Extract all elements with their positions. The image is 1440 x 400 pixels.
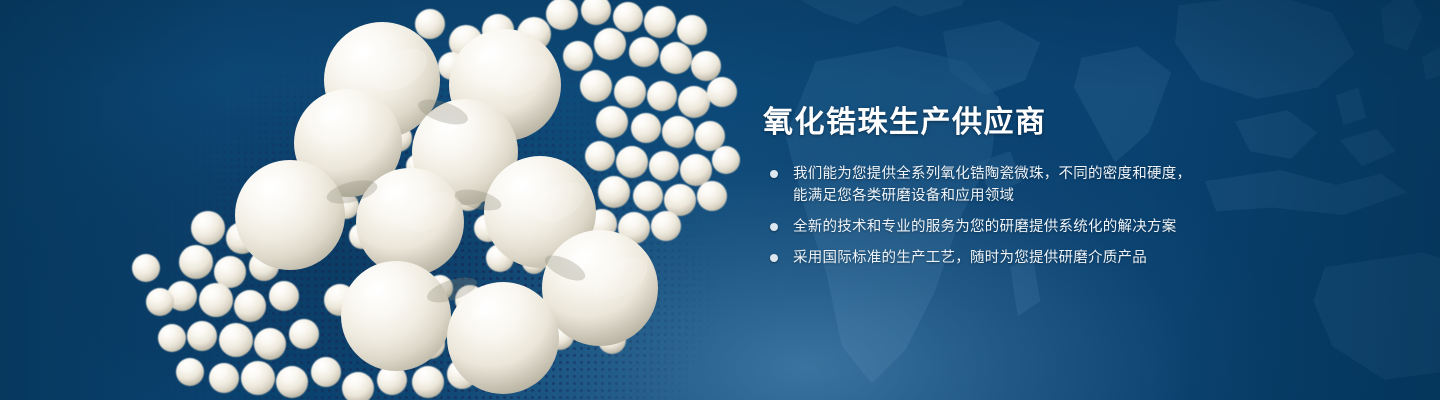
- feature-line-primary: 全新的技术和专业的服务为您的研磨提供系统化的解决方案: [793, 216, 1383, 238]
- feature-list-item: 全新的技术和专业的服务为您的研磨提供系统化的解决方案: [763, 216, 1383, 238]
- bullet-dot-icon: [770, 170, 778, 178]
- feature-line-primary: 我们能为您提供全系列氧化锆陶瓷微珠，不同的密度和硬度，: [793, 163, 1383, 185]
- feature-line-primary: 采用国际标准的生产工艺，随时为您提供研磨介质产品: [793, 247, 1383, 269]
- feature-list-item: 采用国际标准的生产工艺，随时为您提供研磨介质产品: [763, 247, 1383, 269]
- bullet-dot-icon: [770, 223, 778, 231]
- feature-list-item: 我们能为您提供全系列氧化锆陶瓷微珠，不同的密度和硬度， 能满足您各类研磨设备和应…: [763, 163, 1383, 207]
- bullet-dot-icon: [770, 254, 778, 262]
- hero-banner: 氧化锆珠生产供应商 我们能为您提供全系列氧化锆陶瓷微珠，不同的密度和硬度， 能满…: [0, 0, 1440, 400]
- feature-line-secondary: 能满足您各类研磨设备和应用领域: [793, 185, 1383, 207]
- banner-headline: 氧化锆珠生产供应商: [763, 106, 1383, 141]
- banner-feature-list: 我们能为您提供全系列氧化锆陶瓷微珠，不同的密度和硬度， 能满足您各类研磨设备和应…: [763, 163, 1383, 269]
- banner-copy-block: 氧化锆珠生产供应商 我们能为您提供全系列氧化锆陶瓷微珠，不同的密度和硬度， 能满…: [763, 106, 1383, 269]
